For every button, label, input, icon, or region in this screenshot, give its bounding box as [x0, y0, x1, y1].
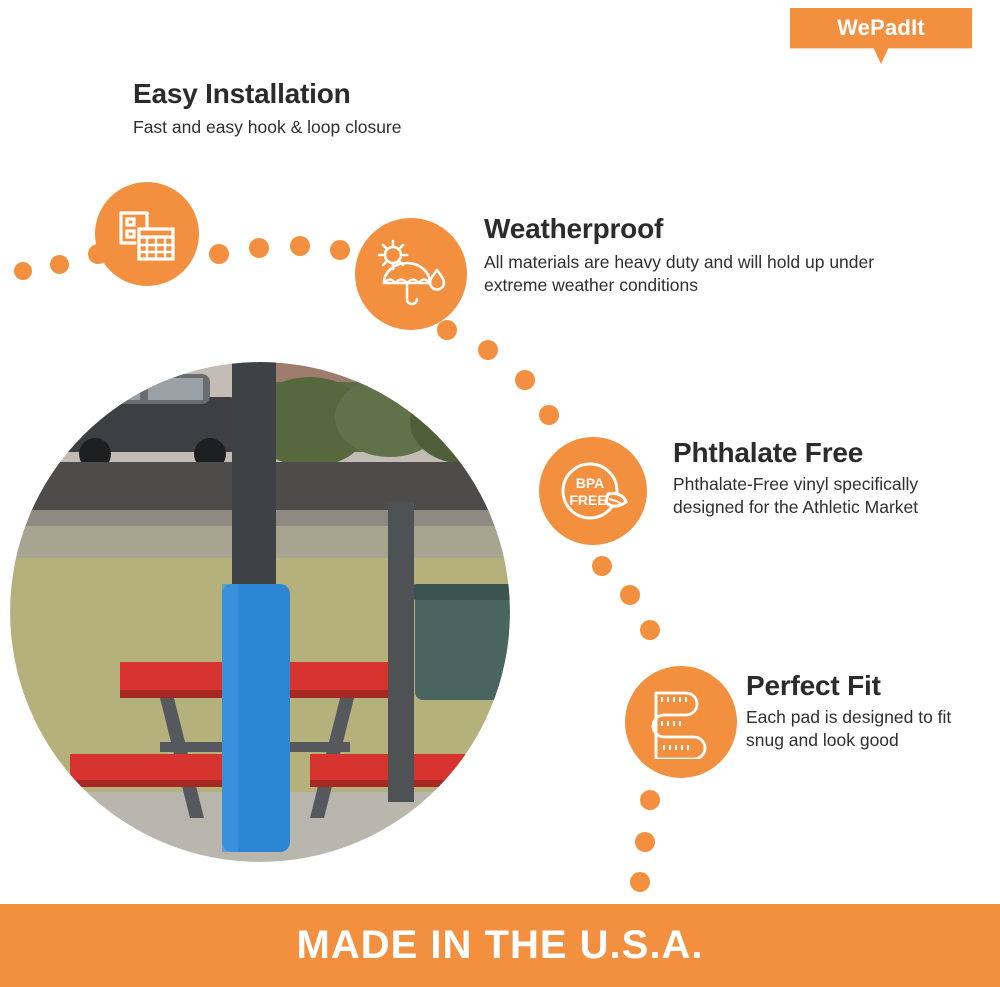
made-in-usa-banner: MADE IN THE U.S.A. — [0, 904, 1000, 987]
path-dot — [620, 585, 640, 605]
bpa-free-leaf-icon: BPA FREE — [539, 437, 647, 545]
banner-text: MADE IN THE U.S.A. — [297, 923, 704, 968]
feature-perfect-fit: Perfect Fit Each pad is designed to fit … — [746, 670, 986, 753]
building-window-icon — [95, 182, 199, 286]
product-photo — [10, 362, 510, 862]
logo-text-it: It — [911, 15, 925, 41]
feature-title: Perfect Fit — [746, 670, 986, 702]
path-dot — [635, 832, 655, 852]
brand-logo: WePadIt — [790, 8, 972, 64]
infographic-page: WePadIt Easy Installation Fast and easy … — [0, 0, 1000, 987]
path-dot — [539, 405, 559, 425]
sun-umbrella-rain-icon — [355, 218, 467, 330]
logo-text-pad: Pad — [870, 15, 911, 41]
logo-text-we: We — [837, 15, 870, 41]
path-dot — [515, 370, 535, 390]
feature-title: Easy Installation — [133, 78, 563, 110]
path-dot — [437, 320, 457, 340]
feature-title: Weatherproof — [484, 213, 904, 245]
feature-title: Phthalate Free — [673, 437, 973, 469]
feature-description: All materials are heavy duty and will ho… — [484, 251, 904, 298]
feature-description: Fast and easy hook & loop closure — [133, 116, 563, 139]
feature-weatherproof: Weatherproof All materials are heavy dut… — [484, 213, 904, 298]
path-dot — [330, 240, 350, 260]
path-dot — [640, 790, 660, 810]
feature-description: Each pad is designed to fit snug and loo… — [746, 706, 986, 753]
feature-description: Phthalate-Free vinyl specifically design… — [673, 473, 973, 520]
path-dot — [592, 556, 612, 576]
path-dot — [14, 262, 32, 280]
svg-text:FREE: FREE — [569, 492, 606, 508]
path-dot — [209, 244, 229, 264]
feature-phthalate-free: Phthalate Free Phthalate-Free vinyl spec… — [673, 437, 973, 520]
feature-easy-installation: Easy Installation Fast and easy hook & l… — [133, 78, 563, 139]
path-dot — [640, 620, 660, 640]
measuring-tape-icon — [625, 666, 737, 778]
path-dot — [249, 238, 269, 258]
path-dot — [478, 340, 498, 360]
path-dot — [50, 255, 69, 274]
photo-illustration — [10, 362, 510, 862]
svg-text:BPA: BPA — [576, 475, 605, 491]
path-dot — [290, 236, 310, 256]
logo-text: WePadIt — [790, 8, 972, 48]
path-dot — [630, 872, 650, 892]
